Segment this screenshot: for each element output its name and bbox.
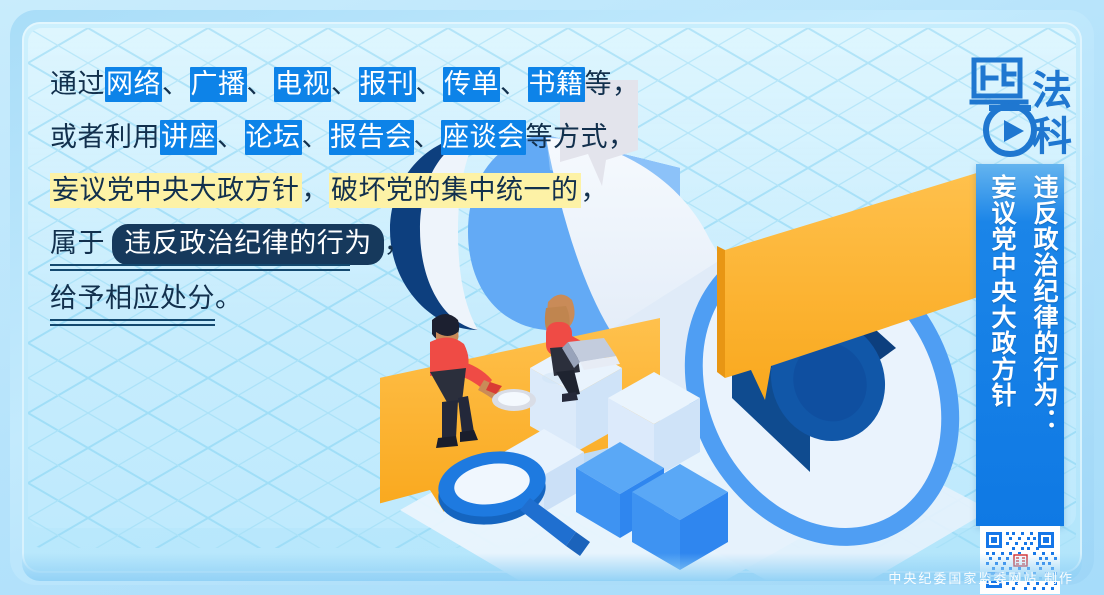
- sep: 、: [247, 69, 275, 99]
- vertical-title-right: 违反政治纪律的行为：: [1021, 174, 1061, 526]
- vertical-title-left: 妄议党中央大政方针: [979, 174, 1019, 526]
- double-underline-1: [50, 264, 630, 272]
- tag-baokan: 报刊: [359, 67, 416, 102]
- line4-prefix: 属于: [50, 228, 112, 258]
- logo-char-fa: 法: [1032, 68, 1072, 113]
- sep: 、: [416, 69, 444, 99]
- text-line-3: 妄议党中央大政方针，破坏党的集中统一的，: [50, 164, 630, 217]
- pill-weifan-jilv: 违反政治纪律的行为: [112, 224, 384, 265]
- line2-prefix: 或者利用: [50, 122, 160, 152]
- tag-jiangzuo: 讲座: [160, 120, 217, 155]
- brand-logo: 法 科: [966, 54, 1082, 162]
- tag-guangbo: 广播: [190, 67, 247, 102]
- tag-dianshi: 电视: [274, 67, 331, 102]
- tag-chuandan: 传单: [443, 67, 500, 102]
- text-line-2: 或者利用讲座、论坛、报告会、座谈会等方式，: [50, 111, 630, 164]
- tag-shuji: 书籍: [528, 67, 585, 102]
- line2-suffix: 等方式，: [526, 122, 636, 152]
- tag-wangluo: 网络: [105, 67, 162, 102]
- poster-root: 通过网络、广播、电视、报刊、传单、书籍等， 或者利用讲座、论坛、报告会、座谈会等…: [0, 0, 1104, 595]
- double-underline-2: [50, 319, 630, 327]
- logo-char-ke: 科: [1032, 114, 1072, 159]
- sep: 、: [217, 122, 245, 152]
- text-line-5: 给予相应处分。: [50, 272, 630, 327]
- comma: ，: [302, 175, 330, 205]
- tag-baogaohui: 报告会: [329, 120, 414, 155]
- line1-suffix: 等，: [585, 69, 640, 99]
- sep: 、: [500, 69, 528, 99]
- text-line-4: 属于 违反政治纪律的行为，: [50, 217, 630, 272]
- highlight-wangyi: 妄议党中央大政方针: [50, 173, 302, 208]
- comma: ，: [384, 228, 412, 258]
- play-icon: [1004, 120, 1024, 142]
- vertical-title-panel: 违反政治纪律的行为： 妄议党中央大政方针: [976, 164, 1064, 526]
- tag-zuotanhui: 座谈会: [441, 120, 526, 155]
- highlight-pohuai: 破坏党的集中统一的: [329, 173, 581, 208]
- tag-luntan: 论坛: [245, 120, 302, 155]
- credit-text: 中央纪委国家监委网站 制作: [888, 568, 1074, 587]
- right-rail: 法 科 违反政治纪律的行为： 妄议党中央大政方针: [962, 48, 1084, 548]
- text-line-1: 通过网络、广播、电视、报刊、传单、书籍等，: [50, 58, 630, 111]
- sep: 、: [162, 69, 190, 99]
- sep: 、: [414, 122, 442, 152]
- line1-prefix: 通过: [50, 69, 105, 99]
- body-text: 通过网络、广播、电视、报刊、传单、书籍等， 或者利用讲座、论坛、报告会、座谈会等…: [50, 58, 630, 327]
- sep: 、: [331, 69, 359, 99]
- sep: 、: [302, 122, 330, 152]
- line5-text: 给予相应处分。: [50, 283, 243, 313]
- comma: ，: [581, 175, 609, 205]
